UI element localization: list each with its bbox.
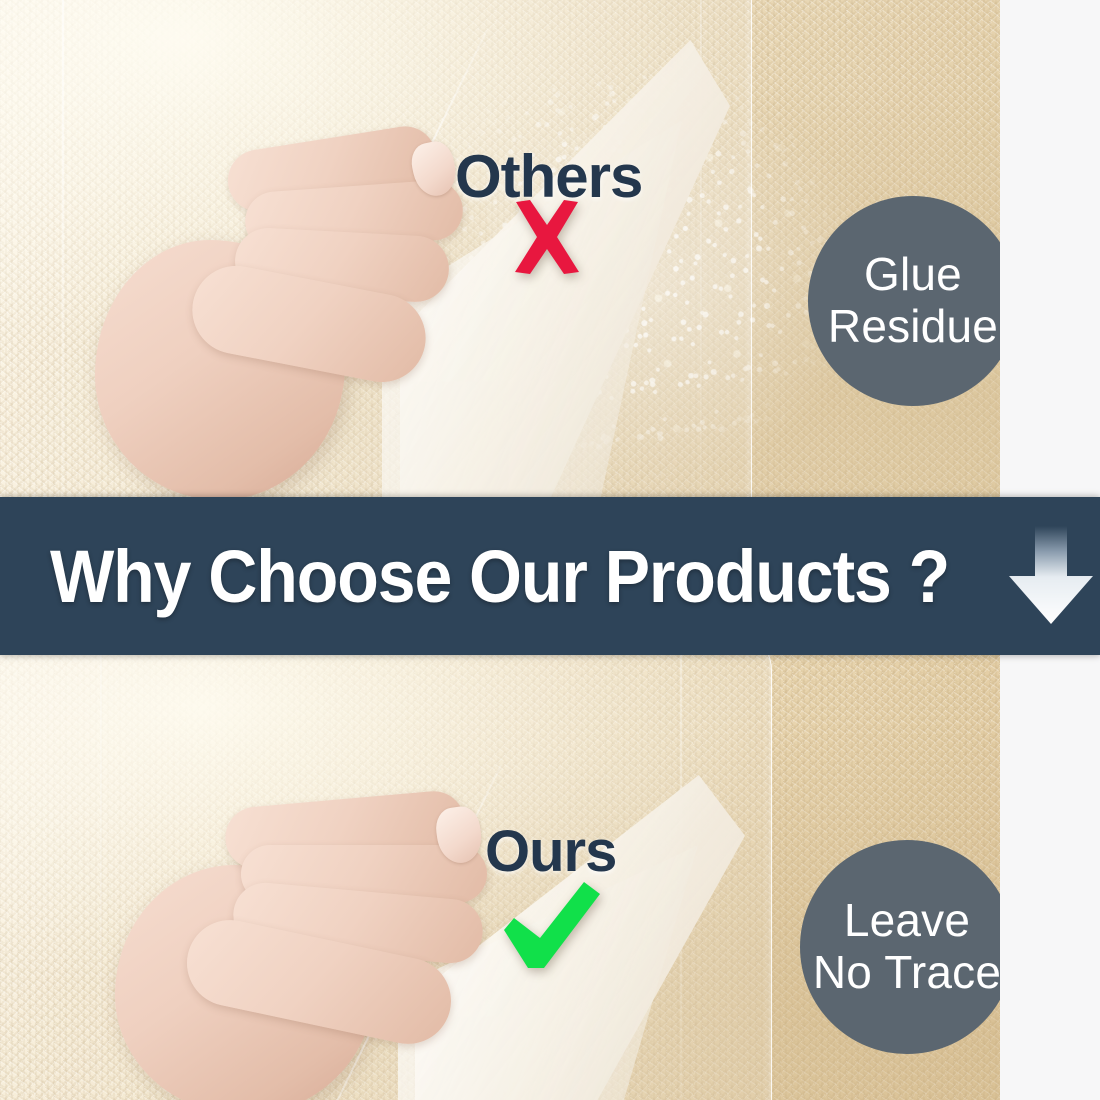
arrow-down-icon [1005, 524, 1097, 628]
badge-label: Leave No Trace [813, 895, 1000, 998]
comparison-label-ours: Ours [485, 818, 616, 885]
headline-banner: Why Choose Our Products ? [0, 497, 1100, 655]
cross-mark-icon [510, 198, 584, 276]
panel-ours: Ours Leave No Trace [0, 655, 1000, 1100]
badge-label: Glue Residue [828, 249, 998, 352]
comparison-infographic: Others Glue Residue Why Choose Our Produ… [0, 0, 1100, 1100]
check-mark-icon [500, 880, 604, 972]
right-gutter-bottom [1000, 655, 1100, 1100]
page-title: Why Choose Our Products ? [50, 534, 949, 619]
right-gutter-top [1000, 0, 1100, 497]
clear-protective-film [0, 655, 772, 1100]
status-badge-leave-no-trace: Leave No Trace [800, 840, 1000, 1054]
panel-others: Others Glue Residue [0, 0, 1000, 497]
clear-protective-film [0, 0, 752, 497]
